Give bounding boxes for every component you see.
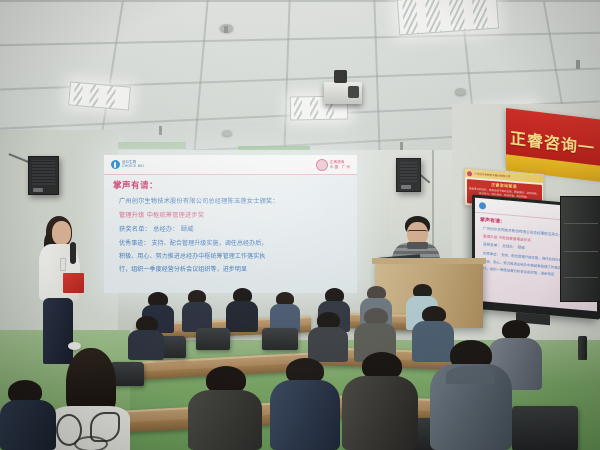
presenter-head — [52, 221, 71, 245]
sprinkler-head-icon — [159, 126, 162, 135]
audience-member — [268, 292, 302, 332]
chair[interactable] — [512, 406, 578, 450]
audience-member — [0, 380, 56, 450]
woman-presenter — [30, 216, 92, 366]
slide-line-2: 管理升级 中枢统筹管理进步奖 — [119, 210, 351, 219]
sprinkler-head-icon — [400, 142, 403, 150]
audience-member — [48, 348, 132, 450]
slide-logo-left-sub: CHOICE BIO — [122, 165, 144, 169]
chair[interactable] — [196, 328, 230, 350]
water-bottle — [578, 336, 587, 360]
slide-title: 掌声有请： — [113, 179, 351, 191]
sprinkler-head-icon — [576, 60, 580, 69]
ceiling-light-panel — [68, 81, 131, 110]
glasses-icon — [408, 230, 427, 235]
sprinkler-head-icon — [224, 26, 228, 33]
side-cabinet — [560, 196, 600, 302]
smoke-detector-icon — [222, 130, 232, 136]
red-folder — [63, 273, 84, 293]
poster-header-note: 广州创尔生物技术股份有限公司 — [474, 172, 510, 179]
audience-member — [186, 366, 264, 450]
audience-member — [126, 316, 166, 360]
presenter-badge — [60, 258, 66, 271]
slide-line-3: 获奖名单： 总经办： 颐威 — [119, 224, 351, 233]
slide-logo-right-sub: 中 国 · 广 州 — [330, 165, 350, 169]
slide-logo-left: 创尔生物 CHOICE BIO — [111, 160, 144, 169]
tv-logo-left-icon — [479, 202, 486, 210]
company-logo-icon — [111, 160, 120, 169]
projection-screen: 创尔生物 CHOICE BIO 正睿咨询 中 国 · 广 州 掌声有请： 广州创… — [104, 155, 357, 293]
chair[interactable] — [262, 328, 298, 350]
photo-scene: 正睿咨询一 广州创尔生物技术股份有限公司 正睿咨询寄语 感谢贵司的信任，感谢全体… — [0, 0, 600, 450]
microphone — [70, 242, 76, 264]
audience-member — [268, 358, 342, 450]
slide-line-1: 广州创尔生物技术股份有限公司总经理陈玉莲女士颁奖： — [119, 196, 351, 205]
wall-speaker-right — [396, 158, 421, 192]
polo-collar — [407, 242, 428, 249]
ceiling-projector — [324, 82, 362, 104]
audience-member — [224, 288, 260, 332]
smoke-detector-icon — [455, 88, 466, 95]
banner-text: 正睿咨询一 — [510, 124, 595, 158]
wall-speaker-left — [28, 156, 59, 195]
slide-body: 掌声有请： 广州创尔生物技术股份有限公司总经理陈玉莲女士颁奖： 管理升级 中枢统… — [113, 179, 351, 290]
audience-member — [340, 352, 420, 450]
audience-member — [180, 290, 214, 332]
audience-member — [428, 340, 514, 450]
slide-line-6: 行，组织一季度经营分析会议组织等，进步明显 — [119, 264, 351, 273]
consultancy-logo-icon — [316, 159, 328, 171]
poster-logo-icon — [467, 171, 472, 176]
ceiling-light-panel — [397, 0, 499, 35]
slide-logo-right: 正睿咨询 中 国 · 广 州 — [316, 159, 350, 171]
slide-line-4: 优秀事迹： 支持、配合管理升级实施，调任总经办后， — [119, 238, 351, 247]
slide-line-5: 积极、用心、努力推进总经办中枢统筹管理工作落实执 — [119, 251, 351, 260]
